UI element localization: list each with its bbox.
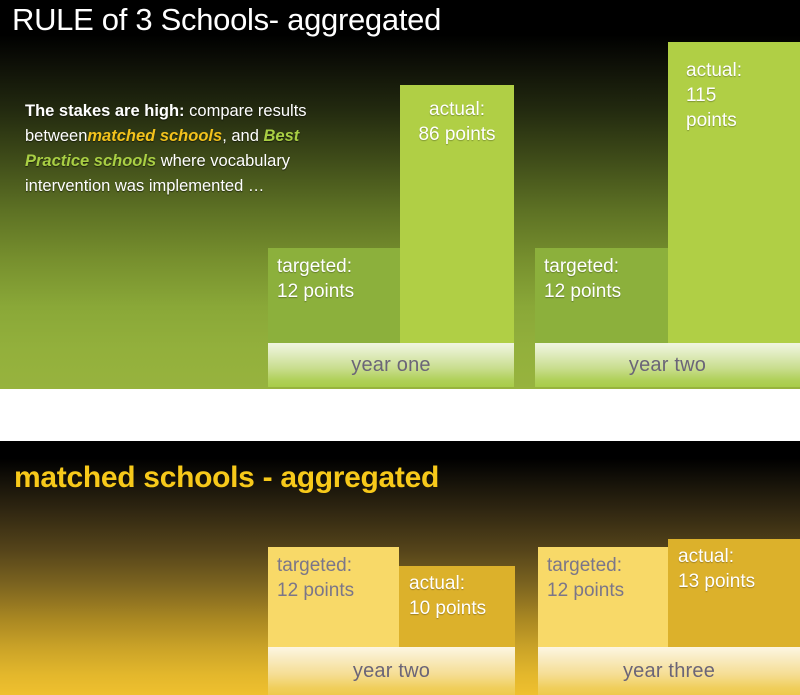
bar-label-line1: actual: xyxy=(400,97,514,122)
bar-label-line2: 86 points xyxy=(400,122,514,147)
bar-targeted-year-two: targeted: 12 points xyxy=(535,248,668,343)
bar-label-targeted-year-one: targeted: 12 points xyxy=(277,254,354,304)
bar-label-line1: targeted: xyxy=(547,553,624,578)
bar-label-line2: 115 xyxy=(686,83,742,108)
bar-label-line1: targeted: xyxy=(544,254,621,279)
panel-matched-schools: matched schools - aggregated targeted: 1… xyxy=(0,441,800,695)
bar-label-actual-year-two: actual: 115 points xyxy=(686,58,742,133)
stakes-lead: The stakes are high: xyxy=(25,102,185,120)
panel-rule-of-3-schools: RULE of 3 Schools- aggregated The stakes… xyxy=(0,0,800,389)
year-plinth-matched-year-two: year two xyxy=(268,647,515,695)
bar-label-line1: actual: xyxy=(686,58,742,83)
bar-label-line2: 12 points xyxy=(547,578,624,603)
bar-actual-year-two: actual: 115 points xyxy=(668,42,800,343)
bar-actual-year-one: actual: 86 points xyxy=(400,85,514,343)
year-plinth-year-two: year two xyxy=(535,343,800,387)
year-plinth-year-one: year one xyxy=(268,343,514,387)
bar-label-line2: 12 points xyxy=(544,279,621,304)
bar-actual-matched-year-two: actual: 10 points xyxy=(399,566,515,647)
bar-label-line2: 12 points xyxy=(277,578,354,603)
stakes-highlight-matched-schools: matched schools xyxy=(87,127,222,145)
bar-targeted-matched-year-two: targeted: 12 points xyxy=(268,547,399,647)
year-label-matched-year-two: year two xyxy=(353,660,430,683)
bar-label-targeted-matched-year-two: targeted: 12 points xyxy=(277,553,354,603)
bar-label-actual-matched-year-two: actual: 10 points xyxy=(409,571,486,621)
panel-title-matched-schools: matched schools - aggregated xyxy=(14,458,439,498)
bar-label-targeted-year-two: targeted: 12 points xyxy=(544,254,621,304)
bar-targeted-matched-year-three: targeted: 12 points xyxy=(538,547,669,647)
bar-label-line1: actual: xyxy=(678,544,755,569)
bar-label-line2: 13 points xyxy=(678,569,755,594)
year-label-year-two: year two xyxy=(629,354,706,377)
year-plinth-matched-year-three: year three xyxy=(538,647,800,695)
bar-label-actual-matched-year-three: actual: 13 points xyxy=(678,544,755,594)
stakes-part-2: , and xyxy=(222,127,263,145)
year-label-year-one: year one xyxy=(351,354,430,377)
bar-label-line1: actual: xyxy=(409,571,486,596)
bar-label-actual-year-one: actual: 86 points xyxy=(400,97,514,147)
bar-targeted-year-one: targeted: 12 points xyxy=(268,248,400,343)
bar-label-line1: targeted: xyxy=(277,254,354,279)
page-title: RULE of 3 Schools- aggregated xyxy=(12,0,441,40)
bar-label-line2: 12 points xyxy=(277,279,354,304)
bar-label-line2: 10 points xyxy=(409,596,486,621)
bar-label-targeted-matched-year-three: targeted: 12 points xyxy=(547,553,624,603)
year-label-matched-year-three: year three xyxy=(623,660,715,683)
bar-label-line1: targeted: xyxy=(277,553,354,578)
stakes-paragraph: The stakes are high: compare results bet… xyxy=(25,99,345,199)
bar-label-line3: points xyxy=(686,108,742,133)
bar-actual-matched-year-three: actual: 13 points xyxy=(668,539,800,647)
